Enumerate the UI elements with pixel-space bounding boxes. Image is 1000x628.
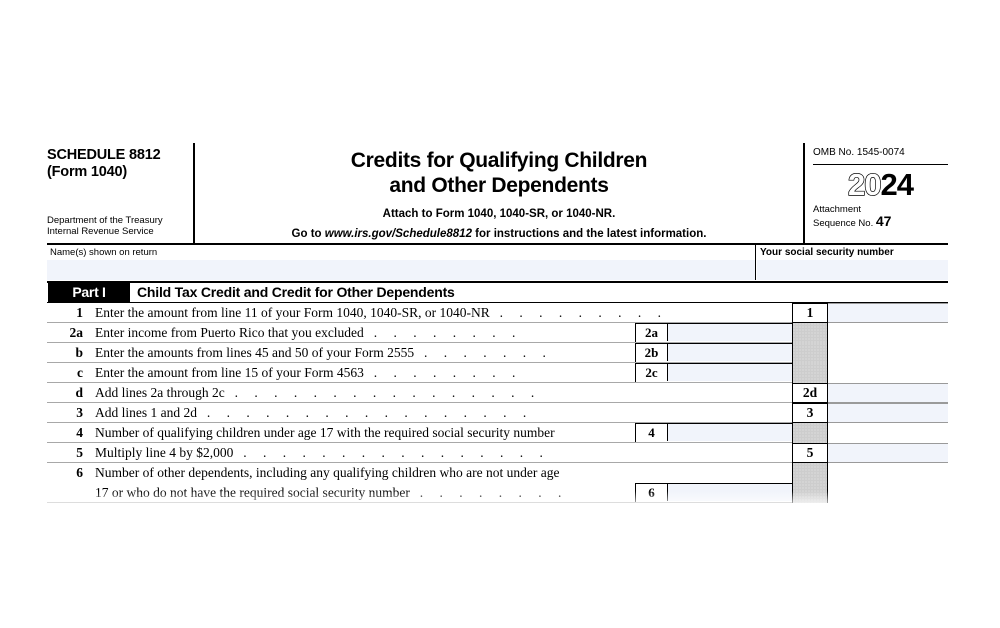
attach-to-instruction: Attach to Form 1040, 1040-SR, or 1040-NR… (197, 198, 801, 220)
leader-dots: . . . . . . . . . (490, 305, 668, 320)
inner-entry-box: 2b (635, 343, 792, 363)
inner-amount-input[interactable] (668, 424, 792, 441)
inner-amount-input[interactable] (668, 364, 792, 381)
inner-line-number: 2b (636, 344, 668, 361)
line-number: b (47, 343, 83, 363)
schedule-title-line1: SCHEDULE 8812 (47, 147, 193, 164)
inner-entry-box: 2a (635, 323, 792, 343)
form-main-title: Credits for Qualifying Children and Othe… (197, 143, 801, 198)
amount-cell-blank (828, 363, 948, 383)
result-line-number: 3 (792, 403, 828, 423)
amount-input[interactable] (828, 303, 948, 323)
inner-line-number: 6 (636, 484, 668, 501)
line-number: 5 (47, 443, 83, 463)
schedule-title: SCHEDULE 8812 (Form 1040) (47, 143, 193, 180)
form-line-row-partial (47, 503, 948, 513)
tax-year-prefix: 20 (848, 167, 880, 202)
name-field-label: Name(s) shown on return (47, 245, 755, 260)
leader-dots: . . . . . . . . . . . . . . . . . (197, 405, 533, 420)
tax-year-block: 2024 (813, 165, 948, 202)
result-line-number: 2d (792, 383, 828, 403)
line-number: c (47, 363, 83, 383)
leader-dots: . . . . . . . . (410, 485, 568, 500)
result-line-number: 5 (792, 443, 828, 463)
blocked-cell (792, 343, 828, 363)
part-title: Child Tax Credit and Credit for Other De… (137, 283, 455, 302)
leader-dots: . . . . . . . . (364, 365, 522, 380)
line-number: d (47, 383, 83, 403)
department-line2: Internal Revenue Service (47, 226, 163, 237)
form-line-row: 5Multiply line 4 by $2,000 . . . . . . .… (47, 443, 948, 463)
ssn-input[interactable] (757, 260, 948, 280)
attachment-sequence-number: 47 (876, 213, 892, 229)
form-line-row: 2aEnter income from Puerto Rico that you… (47, 323, 948, 343)
line-description: Enter the amount from line 11 of your Fo… (95, 303, 667, 323)
inner-line-number: 4 (636, 424, 668, 441)
form-line-items: 1Enter the amount from line 11 of your F… (47, 303, 948, 513)
header-left-block: SCHEDULE 8812 (Form 1040) Department of … (47, 143, 195, 243)
inner-line-number: 2c (636, 364, 668, 381)
inner-line-number: 2a (636, 324, 668, 341)
line-description: Enter the amount from line 15 of your Fo… (95, 363, 522, 383)
goto-suffix: for instructions and the latest informat… (472, 228, 707, 240)
form-line-row: 3Add lines 1 and 2d . . . . . . . . . . … (47, 403, 948, 423)
blocked-cell (792, 463, 828, 503)
line-description: Number of other dependents, including an… (95, 463, 559, 483)
amount-input[interactable] (828, 383, 948, 403)
amount-input[interactable] (828, 443, 948, 463)
leader-dots: . . . . . . . . . . . . . . . . (225, 385, 541, 400)
line-description-continued: 17 or who do not have the required socia… (95, 483, 568, 503)
ssn-field-label: Your social security number (757, 245, 948, 260)
leader-dots: . . . . . . . . . . . . . . . . (233, 445, 549, 460)
tax-year: 2024 (848, 167, 913, 202)
leader-dots: . . . . . . . (414, 345, 552, 360)
department-line1: Department of the Treasury (47, 215, 163, 226)
identification-row: Name(s) shown on return Your social secu… (47, 243, 948, 281)
line-description: Enter the amounts from lines 45 and 50 o… (95, 343, 552, 363)
form-header: SCHEDULE 8812 (Form 1040) Department of … (47, 143, 948, 243)
amount-cell-blank (828, 423, 948, 443)
inner-amount-input[interactable] (668, 324, 792, 341)
irs-url-link[interactable]: www.irs.gov/Schedule8812 (325, 228, 472, 240)
form-line-row: 4Number of qualifying children under age… (47, 423, 948, 443)
line-description: Number of qualifying children under age … (95, 423, 555, 443)
attachment-sequence-block: Attachment Sequence No. 47 (813, 202, 948, 229)
line-number: 1 (47, 303, 83, 323)
blocked-cell (792, 363, 828, 383)
inner-entry-box: 2c (635, 363, 792, 383)
blocked-cell (792, 323, 828, 343)
part-one-header: Part I Child Tax Credit and Credit for O… (47, 281, 948, 303)
main-title-line1: Credits for Qualifying Children (197, 148, 801, 173)
header-right-block: OMB No. 1545-0074 2024 Attachment Sequen… (803, 143, 948, 243)
part-label: Part I (48, 283, 130, 302)
name-input[interactable] (47, 260, 755, 280)
line-description: Add lines 2a through 2c . . . . . . . . … (95, 383, 541, 403)
leader-dots: . . . . . . . . (364, 325, 522, 340)
line-number: 2a (47, 323, 83, 343)
department-block: Department of the Treasury Internal Reve… (47, 215, 163, 237)
amount-cell-blank (828, 343, 948, 363)
form-line-row: bEnter the amounts from lines 45 and 50 … (47, 343, 948, 363)
line-number: 6 (47, 463, 83, 483)
form-line-row: 6Number of other dependents, including a… (47, 463, 948, 503)
omb-number: OMB No. 1545-0074 (813, 143, 948, 165)
inner-entry-box: 6 (635, 483, 792, 503)
attachment-label-line2: Sequence No. 47 (813, 216, 948, 230)
amount-input[interactable] (828, 403, 948, 423)
result-line-number: 1 (792, 303, 828, 323)
main-title-line2: and Other Dependents (197, 173, 801, 198)
amount-cell-blank (828, 323, 948, 343)
line-description: Enter income from Puerto Rico that you e… (95, 323, 522, 343)
form-line-row: 1Enter the amount from line 11 of your F… (47, 303, 948, 323)
line-description: Add lines 1 and 2d . . . . . . . . . . .… (95, 403, 533, 423)
line-number: 3 (47, 403, 83, 423)
ssn-field-cell: Your social security number (757, 245, 948, 280)
amount-cell-blank (828, 463, 948, 503)
header-center-block: Credits for Qualifying Children and Othe… (197, 143, 801, 243)
form-line-row: cEnter the amount from line 15 of your F… (47, 363, 948, 383)
line-description: Multiply line 4 by $2,000 . . . . . . . … (95, 443, 549, 463)
tax-year-suffix: 24 (881, 167, 913, 202)
line-number: 4 (47, 423, 83, 443)
blocked-cell (792, 423, 828, 443)
inner-entry-box: 4 (635, 423, 792, 443)
schedule-title-line2: (Form 1040) (47, 164, 193, 181)
name-field-cell: Name(s) shown on return (47, 245, 756, 280)
irs-form-schedule-8812: SCHEDULE 8812 (Form 1040) Department of … (47, 143, 948, 513)
goto-prefix: Go to (292, 228, 325, 240)
inner-amount-input[interactable] (668, 344, 792, 361)
inner-amount-input[interactable] (668, 484, 792, 501)
form-line-row: dAdd lines 2a through 2c . . . . . . . .… (47, 383, 948, 403)
goto-url-instruction: Go to www.irs.gov/Schedule8812 for instr… (197, 220, 801, 240)
